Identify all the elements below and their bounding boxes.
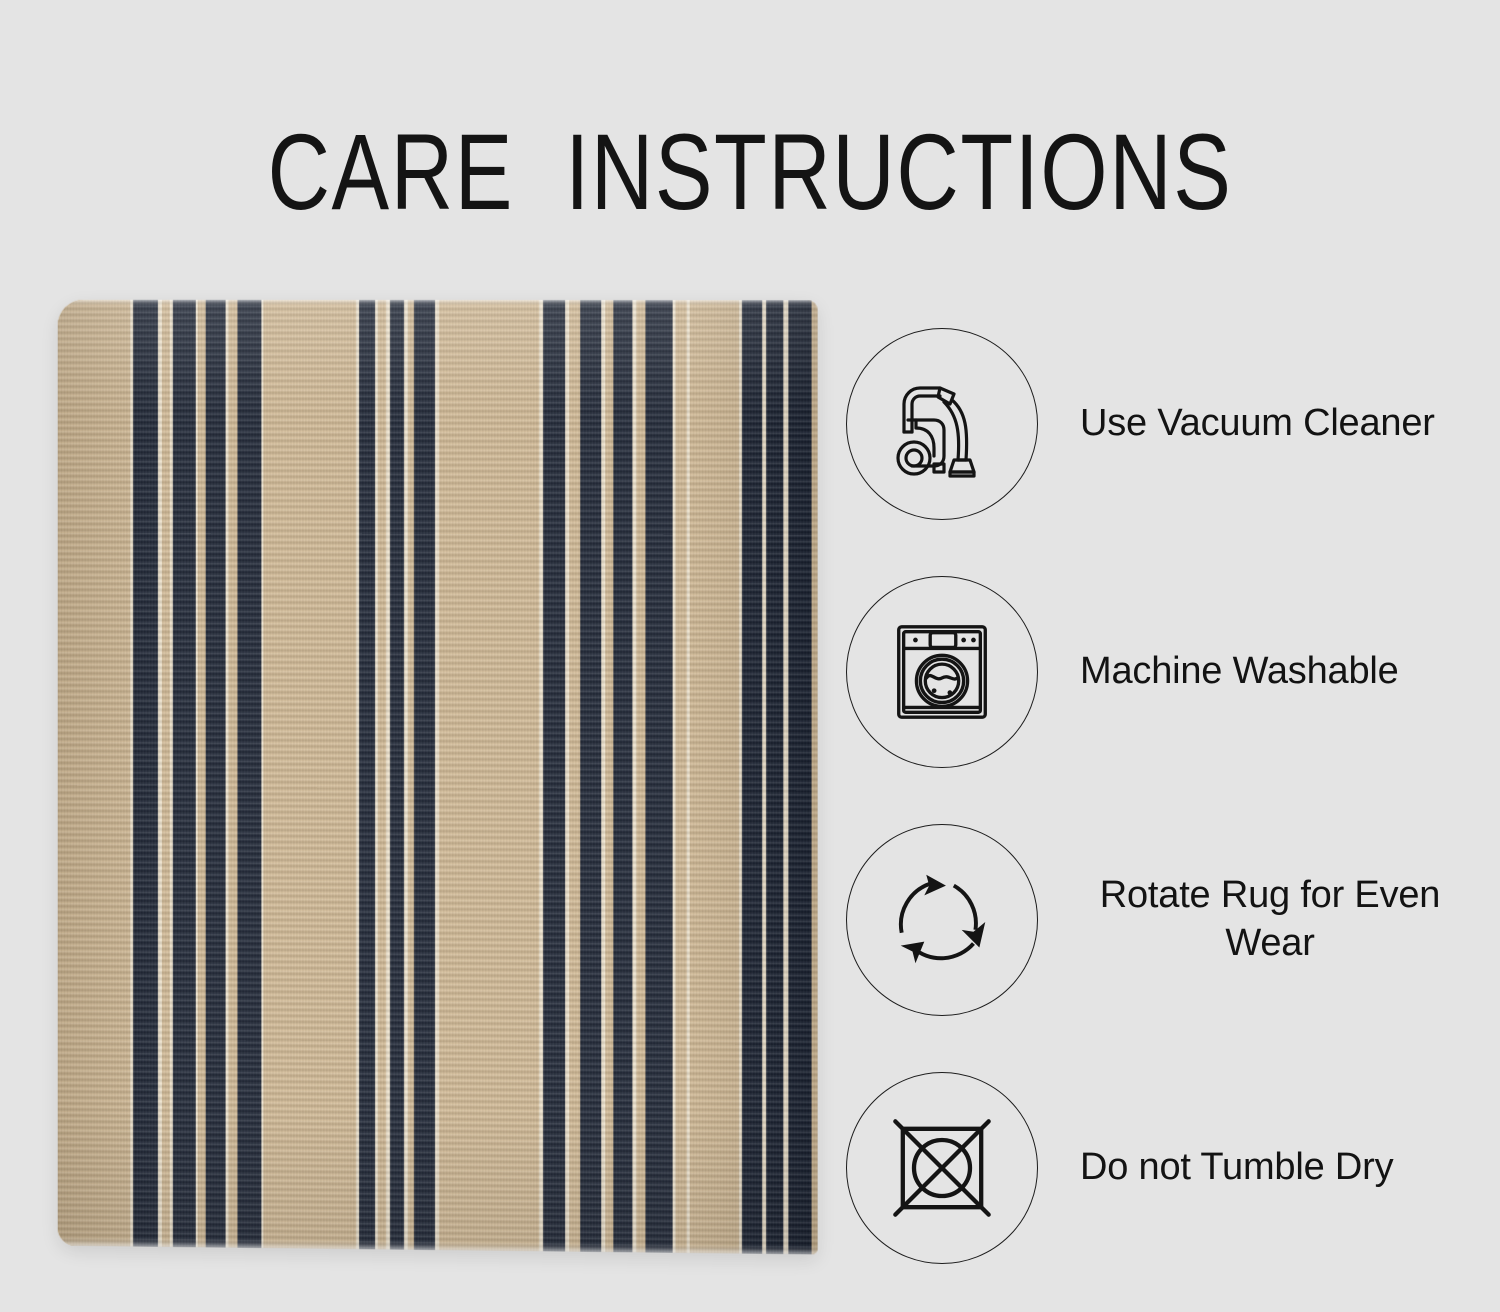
rug-stripe: [788, 300, 812, 1254]
care-item-vacuum: Use Vacuum Cleaner: [846, 300, 1486, 548]
rug-stripe: [414, 300, 435, 1250]
care-item-label: Use Vacuum Cleaner: [1080, 400, 1435, 448]
rug-stripe: [569, 300, 580, 1252]
rug-stripe: [264, 300, 356, 1249]
rug-stripe: [198, 300, 205, 1247]
page-title: CARE INSTRUCTIONS: [150, 118, 1350, 226]
rug-stripe: [439, 300, 539, 1251]
care-instructions-list: Use Vacuum Cleaner: [846, 300, 1486, 1292]
rug-stripe: [766, 300, 783, 1254]
care-item-label: Rotate Rug for Even Wear: [1080, 872, 1460, 968]
rug-stripe: [605, 300, 614, 1252]
rug-stripe: [408, 300, 415, 1250]
rug-stripe-pattern: [58, 300, 818, 1255]
rug-stripe: [646, 300, 673, 1253]
rug-stripe: [206, 300, 226, 1248]
care-item-label: Machine Washable: [1080, 648, 1399, 696]
rug-stripe: [134, 300, 158, 1247]
rug-stripe: [580, 300, 601, 1252]
washing-machine-icon: [846, 576, 1038, 768]
rug-shape: [58, 300, 818, 1255]
rug-stripe: [543, 300, 566, 1251]
rug-stripe: [173, 300, 195, 1247]
rug-stripe: [390, 300, 404, 1250]
rug-product-image: [56, 300, 816, 1250]
rug-stripe: [228, 300, 237, 1248]
care-item-no-tumble-dry: Do not Tumble Dry: [846, 1044, 1486, 1292]
rug-top-edge-fray: [58, 300, 818, 305]
rug-stripe: [742, 300, 763, 1254]
rug-stripe: [379, 300, 387, 1249]
rug-stripe: [614, 300, 633, 1252]
rug-stripe: [238, 300, 261, 1248]
no-tumble-dry-icon: [846, 1072, 1038, 1264]
rug-stripe: [812, 300, 818, 1254]
rotate-arrows-icon: [846, 824, 1038, 1016]
rug-stripe: [689, 300, 738, 1253]
care-item-machine-washable: Machine Washable: [846, 548, 1486, 796]
rug-stripe: [676, 300, 686, 1253]
care-item-rotate-rug: Rotate Rug for Even Wear: [846, 796, 1486, 1044]
rug-stripe: [359, 300, 375, 1249]
rug-stripe: [58, 300, 130, 1247]
vacuum-cleaner-icon: [846, 328, 1038, 520]
rug-stripe: [636, 300, 645, 1252]
rug-stripe: [162, 300, 170, 1247]
care-item-label: Do not Tumble Dry: [1080, 1144, 1393, 1192]
